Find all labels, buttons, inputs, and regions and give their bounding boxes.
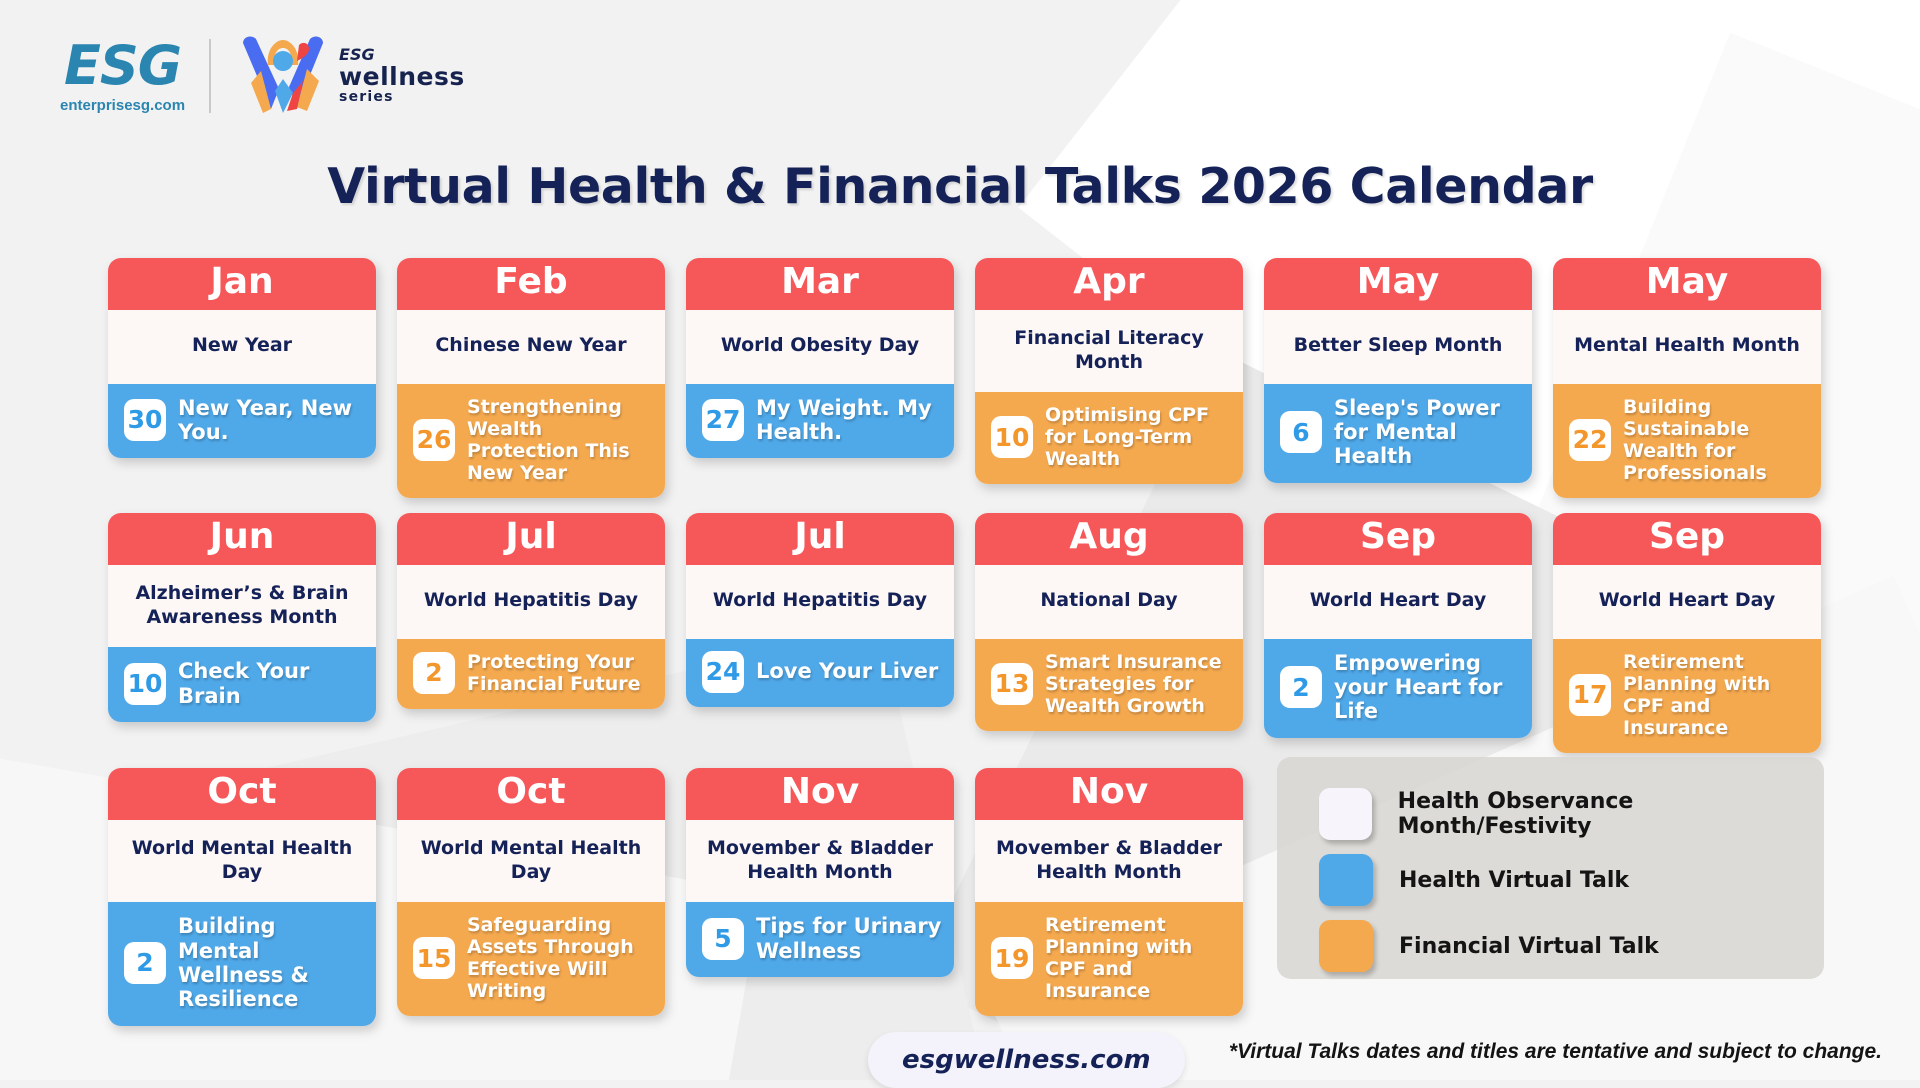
talk-title: Building Sustainable Wealth for Professi… — [1623, 396, 1809, 484]
card-talk-row[interactable]: 6Sleep's Power for Mental Health — [1264, 384, 1532, 483]
card-month-label: Oct — [397, 768, 665, 820]
card-observance-label: Movember & Bladder Health Month — [975, 820, 1243, 903]
talk-title: Safeguarding Assets Through Effective Wi… — [467, 914, 653, 1002]
day-badge: 6 — [1280, 411, 1322, 453]
card-observance-label: Chinese New Year — [397, 310, 665, 384]
card-talk-row[interactable]: 10Optimising CPF for Long-Term Wealth — [975, 392, 1243, 484]
calendar-card[interactable]: OctWorld Mental Health Day15Safeguarding… — [397, 768, 665, 1016]
legend-swatch — [1319, 788, 1372, 840]
card-observance-label: World Hepatitis Day — [397, 565, 665, 639]
page-title: Virtual Health & Financial Talks 2026 Ca… — [0, 158, 1920, 215]
card-observance-label: World Heart Day — [1553, 565, 1821, 639]
talk-title: Tips for Urinary Wellness — [756, 914, 942, 963]
card-month-label: Mar — [686, 258, 954, 310]
wellness-main-text: wellness — [339, 64, 465, 90]
talk-title: Love Your Liver — [756, 659, 938, 683]
card-talk-row[interactable]: 22Building Sustainable Wealth for Profes… — [1553, 384, 1821, 498]
calendar-card[interactable]: MayMental Health Month22Building Sustain… — [1553, 258, 1821, 498]
talk-title: New Year, New You. — [178, 396, 364, 445]
card-talk-row[interactable]: 24Love Your Liver — [686, 639, 954, 707]
talk-title: Building Mental Wellness & Resilience — [178, 914, 364, 1011]
calendar-card[interactable]: AugNational Day13Smart Insurance Strateg… — [975, 513, 1243, 731]
legend-row: Financial Virtual Talk — [1319, 913, 1824, 979]
day-badge: 10 — [124, 663, 166, 705]
esg-url-text: enterprisesg.com — [60, 97, 185, 114]
calendar-card[interactable]: OctWorld Mental Health Day2Building Ment… — [108, 768, 376, 1026]
talk-title: Retirement Planning with CPF and Insuran… — [1623, 651, 1809, 739]
calendar-card[interactable]: NovMovember & Bladder Health Month19Reti… — [975, 768, 1243, 1016]
talk-title: Sleep's Power for Mental Health — [1334, 396, 1520, 469]
card-month-label: Nov — [686, 768, 954, 820]
card-observance-label: World Mental Health Day — [108, 820, 376, 903]
calendar-card[interactable]: JulWorld Hepatitis Day2Protecting Your F… — [397, 513, 665, 709]
calendar-card[interactable]: JulWorld Hepatitis Day24Love Your Liver — [686, 513, 954, 707]
legend-swatch — [1319, 920, 1373, 972]
talk-title: My Weight. My Health. — [756, 396, 942, 445]
calendar-card[interactable]: JunAlzheimer’s & Brain Awareness Month10… — [108, 513, 376, 722]
card-talk-row[interactable]: 19Retirement Planning with CPF and Insur… — [975, 902, 1243, 1016]
legend-swatch — [1319, 854, 1373, 906]
calendar-card[interactable]: SepWorld Heart Day2Empowering your Heart… — [1264, 513, 1532, 738]
card-talk-row[interactable]: 26Strengthening Wealth Protection This N… — [397, 384, 665, 498]
calendar-card[interactable]: JanNew Year30New Year, New You. — [108, 258, 376, 458]
talk-title: Retirement Planning with CPF and Insuran… — [1045, 914, 1231, 1002]
card-observance-label: World Hepatitis Day — [686, 565, 954, 639]
card-talk-row[interactable]: 2Empowering your Heart for Life — [1264, 639, 1532, 738]
day-badge: 2 — [124, 942, 166, 984]
day-badge: 15 — [413, 937, 455, 979]
talk-title: Smart Insurance Strategies for Wealth Gr… — [1045, 651, 1231, 717]
day-badge: 10 — [991, 416, 1033, 458]
legend-panel: Health Observance Month/FestivityHealth … — [1277, 757, 1824, 979]
talk-title: Optimising CPF for Long-Term Wealth — [1045, 404, 1231, 470]
calendar-card[interactable]: AprFinancial Literacy Month10Optimising … — [975, 258, 1243, 484]
day-badge: 13 — [991, 663, 1033, 705]
card-talk-row[interactable]: 2Protecting Your Financial Future — [397, 639, 665, 709]
calendar-card[interactable]: MarWorld Obesity Day27My Weight. My Heal… — [686, 258, 954, 458]
card-observance-label: Movember & Bladder Health Month — [686, 820, 954, 903]
day-badge: 22 — [1569, 419, 1611, 461]
card-month-label: Oct — [108, 768, 376, 820]
day-badge: 26 — [413, 419, 455, 461]
talk-title: Protecting Your Financial Future — [467, 651, 653, 695]
day-badge: 5 — [702, 918, 744, 960]
esg-wordmark: ESG — [64, 39, 181, 93]
card-observance-label: World Obesity Day — [686, 310, 954, 384]
disclaimer-text: *Virtual Talks dates and titles are tent… — [1229, 1040, 1882, 1064]
card-observance-label: Better Sleep Month — [1264, 310, 1532, 384]
wellness-w-mark-icon — [235, 31, 331, 122]
card-observance-label: New Year — [108, 310, 376, 384]
logo-divider — [209, 39, 211, 113]
card-month-label: Sep — [1553, 513, 1821, 565]
card-month-label: Jul — [686, 513, 954, 565]
card-observance-label: Financial Literacy Month — [975, 310, 1243, 393]
day-badge: 24 — [702, 651, 744, 693]
card-talk-row[interactable]: 5Tips for Urinary Wellness — [686, 902, 954, 977]
legend-label: Health Virtual Talk — [1399, 868, 1629, 893]
card-observance-label: Alzheimer’s & Brain Awareness Month — [108, 565, 376, 648]
card-talk-row[interactable]: 17Retirement Planning with CPF and Insur… — [1553, 639, 1821, 753]
day-badge: 2 — [1280, 666, 1322, 708]
calendar-card[interactable]: FebChinese New Year26Strengthening Wealt… — [397, 258, 665, 498]
card-month-label: Nov — [975, 768, 1243, 820]
card-talk-row[interactable]: 10Check Your Brain — [108, 647, 376, 722]
card-observance-label: National Day — [975, 565, 1243, 639]
legend-row: Health Virtual Talk — [1319, 847, 1824, 913]
calendar-card[interactable]: MayBetter Sleep Month6Sleep's Power for … — [1264, 258, 1532, 483]
talk-title: Check Your Brain — [178, 659, 364, 708]
card-month-label: May — [1264, 258, 1532, 310]
card-talk-row[interactable]: 27My Weight. My Health. — [686, 384, 954, 459]
day-badge: 30 — [124, 399, 166, 441]
calendar-poster: ESG enterprisesg.com ESG — [0, 0, 1920, 1080]
card-observance-label: World Heart Day — [1264, 565, 1532, 639]
wellness-series-text: series — [339, 90, 465, 105]
card-month-label: Jul — [397, 513, 665, 565]
talk-title: Empowering your Heart for Life — [1334, 651, 1520, 724]
talk-title: Strengthening Wealth Protection This New… — [467, 396, 653, 484]
legend-label: Financial Virtual Talk — [1399, 934, 1659, 959]
card-month-label: Feb — [397, 258, 665, 310]
card-month-label: Aug — [975, 513, 1243, 565]
day-badge: 27 — [702, 399, 744, 441]
logo-row: ESG enterprisesg.com ESG — [60, 26, 465, 126]
day-badge: 19 — [991, 937, 1033, 979]
calendar-card[interactable]: NovMovember & Bladder Health Month5Tips … — [686, 768, 954, 977]
card-talk-row[interactable]: 30New Year, New You. — [108, 384, 376, 459]
card-observance-label: World Mental Health Day — [397, 820, 665, 903]
card-talk-row[interactable]: 2Building Mental Wellness & Resilience — [108, 902, 376, 1025]
legend-row: Health Observance Month/Festivity — [1319, 781, 1824, 847]
wellness-wordmark: ESG wellness series — [339, 47, 465, 105]
legend-label: Health Observance Month/Festivity — [1398, 789, 1824, 839]
card-month-label: May — [1553, 258, 1821, 310]
card-month-label: Sep — [1264, 513, 1532, 565]
card-talk-row[interactable]: 15Safeguarding Assets Through Effective … — [397, 902, 665, 1016]
day-badge: 17 — [1569, 674, 1611, 716]
esg-logo: ESG enterprisesg.com — [60, 39, 185, 114]
card-month-label: Jan — [108, 258, 376, 310]
day-badge: 2 — [413, 652, 455, 694]
card-month-label: Apr — [975, 258, 1243, 310]
card-talk-row[interactable]: 13Smart Insurance Strategies for Wealth … — [975, 639, 1243, 731]
esg-wellness-logo: ESG wellness series — [235, 31, 465, 122]
card-month-label: Jun — [108, 513, 376, 565]
calendar-card[interactable]: SepWorld Heart Day17Retirement Planning … — [1553, 513, 1821, 753]
card-observance-label: Mental Health Month — [1553, 310, 1821, 384]
